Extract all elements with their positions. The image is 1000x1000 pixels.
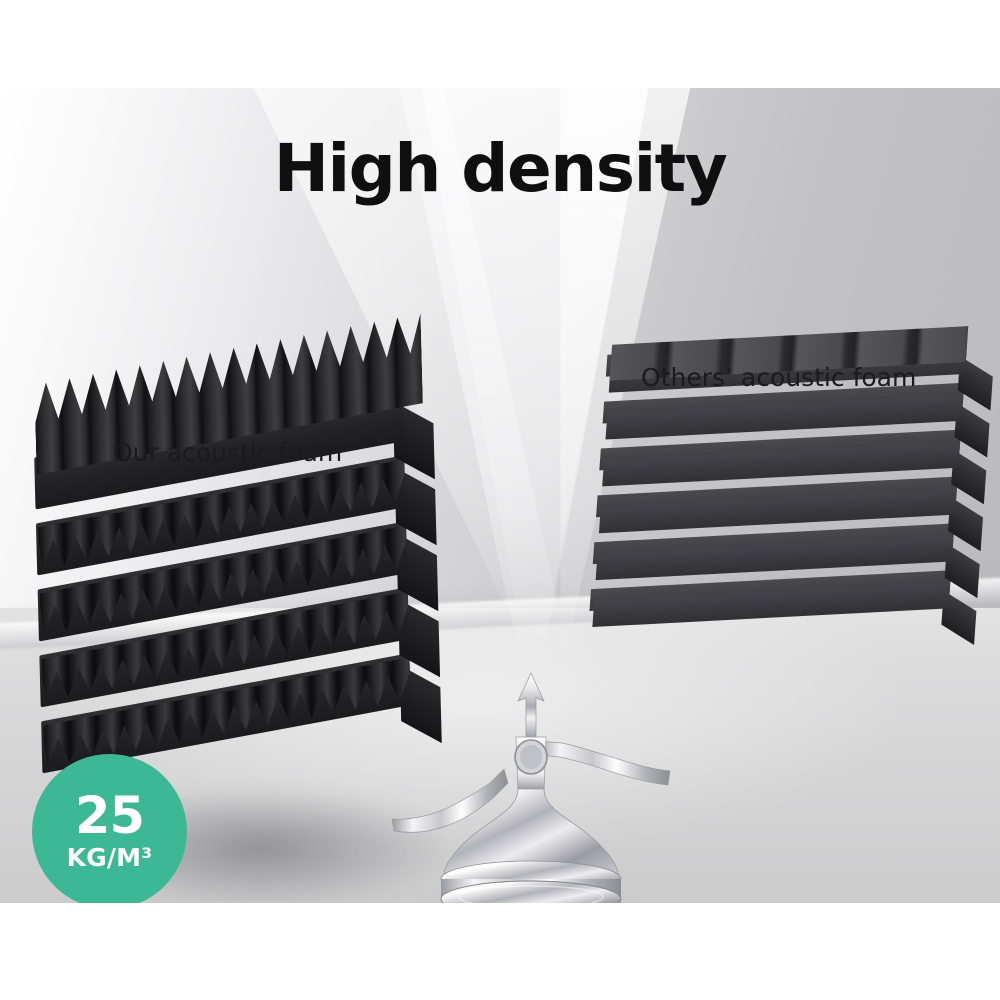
top-white-band (0, 0, 1000, 88)
density-badge: 25 KG/M³ (32, 754, 187, 903)
density-value: 25 (75, 793, 144, 841)
scene-photo: 25 KG/M³ Our acoustic foam Others’ acous… (0, 88, 1000, 903)
caption-others-foam: Others’ acoustic foam (641, 363, 916, 392)
product-marketing-image: 25 KG/M³ Our acoustic foam Others’ acous… (0, 0, 1000, 1000)
density-unit: KG/M³ (67, 845, 153, 870)
caption-our-foam: Our acoustic foam (113, 438, 342, 467)
balance-scale-icon (386, 671, 676, 903)
bottom-white-band (0, 903, 1000, 1000)
page-title: High density (0, 136, 1000, 202)
